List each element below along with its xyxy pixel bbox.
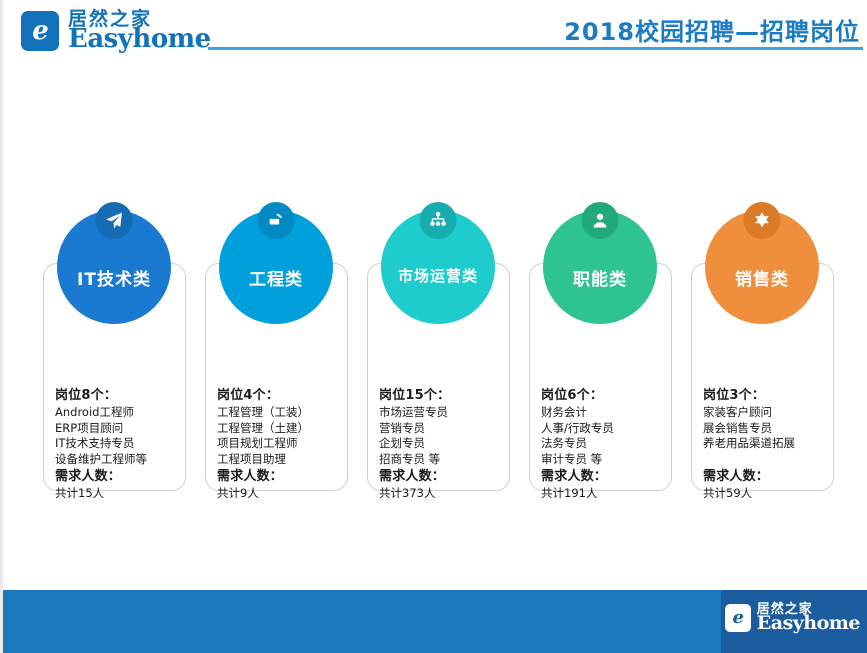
- category-label: 职能类: [543, 265, 657, 290]
- page-title: 2018校园招聘—招聘岗位: [564, 12, 860, 47]
- demand-value: 共计15人: [55, 486, 179, 502]
- blank-line: [703, 452, 827, 467]
- paper-plane-icon: [96, 202, 133, 239]
- demand-heading: 需求人数：: [703, 467, 827, 486]
- card-body: 岗位15个： 市场运营专员 营销专员 企划专员 招商专员 等 需求人数： 共计3…: [379, 386, 503, 502]
- position-item: 法务专员: [541, 436, 665, 452]
- category-label: 市场运营类: [381, 265, 495, 286]
- logo-glyph: e: [725, 609, 751, 627]
- position-item: ERP项目顾问: [55, 421, 179, 437]
- position-item: 工程项目助理: [217, 452, 341, 468]
- brand-wordmark: 居然之家 Easyhome: [68, 10, 211, 52]
- position-item: Android工程师: [55, 405, 179, 421]
- logo-glyph: e: [21, 18, 59, 44]
- user-icon: [582, 202, 619, 239]
- category-bubble[interactable]: 职能类: [543, 210, 657, 324]
- category-bubble[interactable]: 销售类: [705, 210, 819, 324]
- category-label: 工程类: [219, 265, 333, 290]
- category-label: 销售类: [705, 265, 819, 290]
- sitemap-icon: [420, 202, 457, 239]
- positions-heading: 岗位3个：: [703, 386, 827, 405]
- card-body: 岗位4个： 工程管理（工装） 工程管理（土建） 项目规划工程师 工程项目助理 需…: [217, 386, 341, 502]
- demand-value: 共计59人: [703, 486, 827, 502]
- slide-footer: e 居然之家 Easyhome: [3, 590, 867, 653]
- slide-header: e 居然之家 Easyhome 2018校园招聘—招聘岗位: [3, 0, 867, 60]
- category-label: IT技术类: [57, 265, 171, 290]
- bulldozer-icon: [258, 202, 295, 239]
- category-bubble[interactable]: 市场运营类: [381, 210, 495, 324]
- positions-heading: 岗位8个：: [55, 386, 179, 405]
- demand-heading: 需求人数：: [379, 467, 503, 486]
- demand-value: 共计373人: [379, 486, 503, 502]
- demand-value: 共计191人: [541, 486, 665, 502]
- slide-canvas: e 居然之家 Easyhome 2018校园招聘—招聘岗位 岗位8个： Andr…: [0, 0, 867, 653]
- card-body: 岗位8个： Android工程师 ERP项目顾问 IT技术支持专员 设备维护工程…: [55, 386, 179, 502]
- position-item: 展会销售专员: [703, 421, 827, 437]
- footer-brand-logo: e 居然之家 Easyhome: [725, 603, 860, 633]
- footer-wordmark: 居然之家 Easyhome: [757, 603, 860, 633]
- position-item: 项目规划工程师: [217, 436, 341, 452]
- demand-heading: 需求人数：: [217, 467, 341, 486]
- position-item: 招商专员 等: [379, 452, 503, 468]
- position-item: 养老用品渠道拓展: [703, 436, 827, 452]
- demand-heading: 需求人数：: [541, 467, 665, 486]
- easyhome-logo-mark-icon: e: [725, 604, 751, 632]
- position-item: IT技术支持专员: [55, 436, 179, 452]
- job-category-cards: 岗位8个： Android工程师 ERP项目顾问 IT技术支持专员 设备维护工程…: [43, 210, 863, 500]
- demand-heading: 需求人数：: [55, 467, 179, 486]
- card-body: 岗位6个： 财务会计 人事/行政专员 法务专员 审计专员 等 需求人数： 共计1…: [541, 386, 665, 502]
- brand-logo: e 居然之家 Easyhome: [21, 10, 211, 52]
- footer-brand-name-en: Easyhome: [757, 614, 860, 633]
- positions-heading: 岗位4个：: [217, 386, 341, 405]
- position-item: 工程管理（土建）: [217, 421, 341, 437]
- demand-value: 共计9人: [217, 486, 341, 502]
- header-divider: [208, 47, 863, 50]
- easyhome-logo-mark-icon: e: [21, 11, 59, 51]
- brand-name-en: Easyhome: [68, 26, 211, 52]
- position-item: 审计专员 等: [541, 452, 665, 468]
- position-item: 市场运营专员: [379, 405, 503, 421]
- card-body: 岗位3个： 家装客户顾问 展会销售专员 养老用品渠道拓展 需求人数： 共计59人: [703, 386, 827, 501]
- position-item: 设备维护工程师等: [55, 452, 179, 468]
- position-item: 企划专员: [379, 436, 503, 452]
- category-bubble[interactable]: 工程类: [219, 210, 333, 324]
- positions-heading: 岗位15个：: [379, 386, 503, 405]
- position-item: 人事/行政专员: [541, 421, 665, 437]
- position-item: 财务会计: [541, 405, 665, 421]
- position-item: 家装客户顾问: [703, 405, 827, 421]
- positions-heading: 岗位6个：: [541, 386, 665, 405]
- star-badge-icon: [744, 202, 781, 239]
- position-item: 营销专员: [379, 421, 503, 437]
- category-bubble[interactable]: IT技术类: [57, 210, 171, 324]
- position-item: 工程管理（工装）: [217, 405, 341, 421]
